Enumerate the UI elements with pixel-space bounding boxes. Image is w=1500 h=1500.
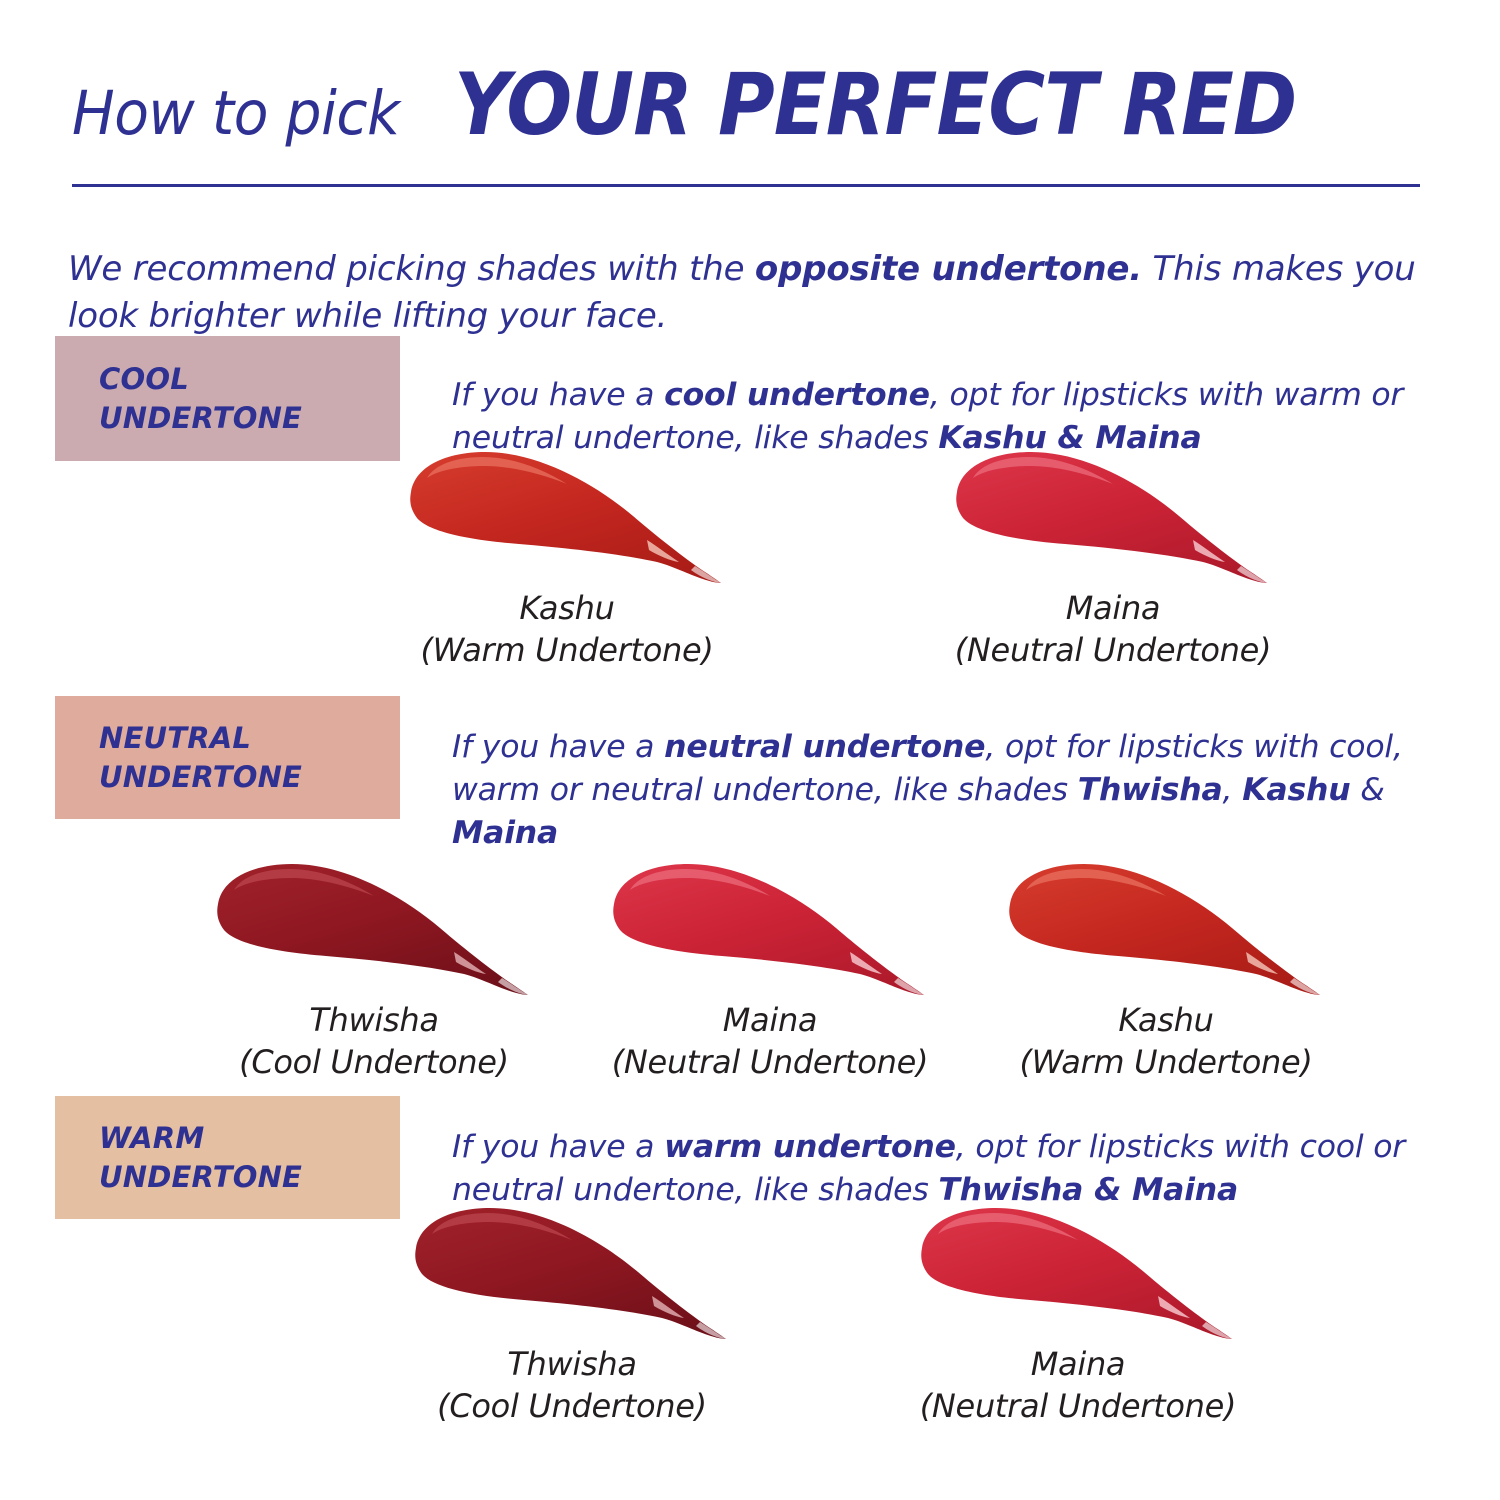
title-bold-part: YOUR PERFECT RED: [454, 62, 1296, 148]
intro-paragraph: We recommend picking shades with the opp…: [68, 246, 1458, 340]
swatch-name: Kashu: [1118, 1001, 1213, 1039]
desc-neutral-pre: If you have a: [452, 729, 664, 765]
swatch-undertone: (Neutral Undertone): [612, 1042, 929, 1084]
swatch-undertone: (Cool Undertone): [437, 1386, 707, 1428]
swatch-row-cool: Kashu (Warm Undertone): [0, 444, 1500, 671]
swatch-thwisha-warm: Thwisha (Cool Undertone): [404, 1200, 740, 1427]
tone-label-warm-line1: WARM: [99, 1119, 400, 1157]
intro-part-1: We recommend picking shades with the: [68, 249, 755, 289]
desc-cool-bold1: cool undertone: [664, 377, 930, 413]
page-title: How to pick YOUR PERFECT RED: [72, 62, 1420, 148]
lipstick-swatch-icon: [910, 1200, 1246, 1350]
swatch-caption: Thwisha (Cool Undertone): [239, 1000, 509, 1083]
swatch-name: Thwisha: [309, 1001, 438, 1039]
desc-neutral-bold3: Kashu: [1242, 772, 1350, 808]
swatch-caption: Kashu (Warm Undertone): [1019, 1000, 1312, 1083]
desc-neutral-bold4: Maina: [452, 815, 558, 851]
tone-label-neutral-line1: NEUTRAL: [99, 719, 400, 757]
header-divider: [72, 184, 1420, 187]
lipstick-swatch-icon: [602, 856, 938, 1006]
swatch-name: Maina: [1066, 589, 1161, 627]
desc-neutral-sep1: ,: [1223, 772, 1243, 808]
swatch-caption: Maina (Neutral Undertone): [612, 1000, 929, 1083]
swatch-undertone: (Neutral Undertone): [955, 630, 1272, 672]
swatch-caption: Maina (Neutral Undertone): [920, 1344, 1237, 1427]
swatch-undertone: (Warm Undertone): [420, 630, 713, 672]
swatch-row-warm: Thwisha (Cool Undertone): [0, 1200, 1500, 1427]
swatch-maina-cool: Maina (Neutral Undertone): [945, 444, 1281, 671]
lipstick-swatch-icon: [945, 444, 1281, 594]
swatch-undertone: (Cool Undertone): [239, 1042, 509, 1084]
swatch-maina-neutral: Maina (Neutral Undertone): [602, 856, 938, 1083]
desc-neutral-sep2: &: [1350, 772, 1384, 808]
swatch-name: Thwisha: [507, 1345, 636, 1383]
swatch-kashu-neutral: Kashu (Warm Undertone): [998, 856, 1334, 1083]
desc-warm-pre: If you have a: [452, 1129, 664, 1165]
tone-label-cool-line1: COOL: [99, 360, 400, 398]
swatch-name: Maina: [723, 1001, 818, 1039]
title-light-part: How to pick: [72, 83, 399, 144]
swatch-caption: Maina (Neutral Undertone): [955, 588, 1272, 671]
desc-cool-pre: If you have a: [452, 377, 664, 413]
lipstick-swatch-icon: [399, 444, 735, 594]
swatch-caption: Thwisha (Cool Undertone): [437, 1344, 707, 1427]
desc-warm-bold1: warm undertone: [664, 1129, 956, 1165]
swatch-undertone: (Neutral Undertone): [920, 1386, 1237, 1428]
tone-label-warm-line2: UNDERTONE: [99, 1158, 400, 1196]
lipstick-swatch-icon: [998, 856, 1334, 1006]
tone-label-cool-line2: UNDERTONE: [99, 399, 400, 437]
page-header: How to pick YOUR PERFECT RED: [72, 62, 1420, 190]
swatch-name: Kashu: [519, 589, 614, 627]
swatch-undertone: (Warm Undertone): [1019, 1042, 1312, 1084]
swatch-name: Maina: [1031, 1345, 1126, 1383]
swatch-kashu-cool: Kashu (Warm Undertone): [399, 444, 735, 671]
swatch-row-neutral: Thwisha (Cool Undertone): [0, 856, 1500, 1083]
desc-neutral-bold1: neutral undertone: [664, 729, 985, 765]
lipstick-swatch-icon: [404, 1200, 740, 1350]
swatch-maina-warm: Maina (Neutral Undertone): [910, 1200, 1246, 1427]
intro-bold: opposite undertone.: [755, 249, 1142, 289]
description-neutral: If you have a neutral undertone, opt for…: [452, 726, 1442, 856]
tone-label-neutral-line2: UNDERTONE: [99, 758, 400, 796]
swatch-thwisha-neutral: Thwisha (Cool Undertone): [206, 856, 542, 1083]
desc-neutral-bold2: Thwisha: [1078, 772, 1223, 808]
lipstick-swatch-icon: [206, 856, 542, 1006]
tone-label-neutral: NEUTRAL UNDERTONE: [55, 696, 400, 819]
swatch-caption: Kashu (Warm Undertone): [420, 588, 713, 671]
tone-label-cool: COOL UNDERTONE: [55, 336, 400, 461]
